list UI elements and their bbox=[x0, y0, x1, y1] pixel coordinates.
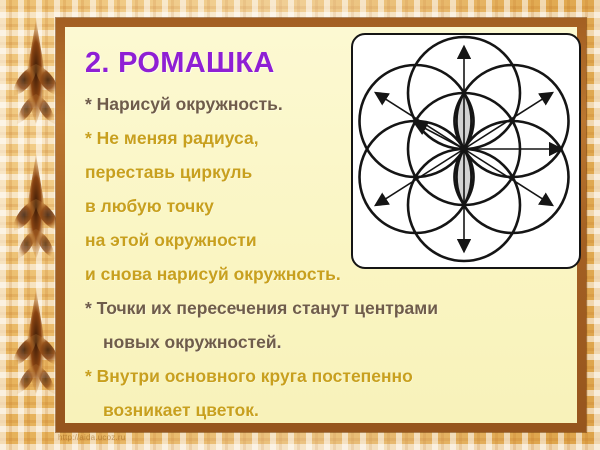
ornament-icon bbox=[14, 0, 58, 450]
page-title: 2. РОМАШКА bbox=[85, 47, 275, 80]
presentation-slide: 2. РОМАШКА * Нарисуй окружность. * Не ме… bbox=[0, 0, 600, 450]
list-item: возникает цветок. bbox=[85, 393, 555, 427]
flower-of-life-icon bbox=[353, 35, 575, 263]
content-frame: 2. РОМАШКА * Нарисуй окружность. * Не ме… bbox=[56, 18, 586, 432]
list-item: * Точки их пересечения станут центрами bbox=[85, 291, 555, 325]
list-item: новых окружностей. bbox=[85, 325, 555, 359]
watermark-text: http://aida.ucoz.ru bbox=[58, 433, 125, 442]
content-panel: 2. РОМАШКА * Нарисуй окружность. * Не ме… bbox=[65, 27, 577, 423]
flower-of-life-diagram bbox=[351, 33, 581, 269]
left-ornament-decoration bbox=[14, 0, 58, 450]
list-item: * Внутри основного круга постепенно bbox=[85, 359, 555, 393]
